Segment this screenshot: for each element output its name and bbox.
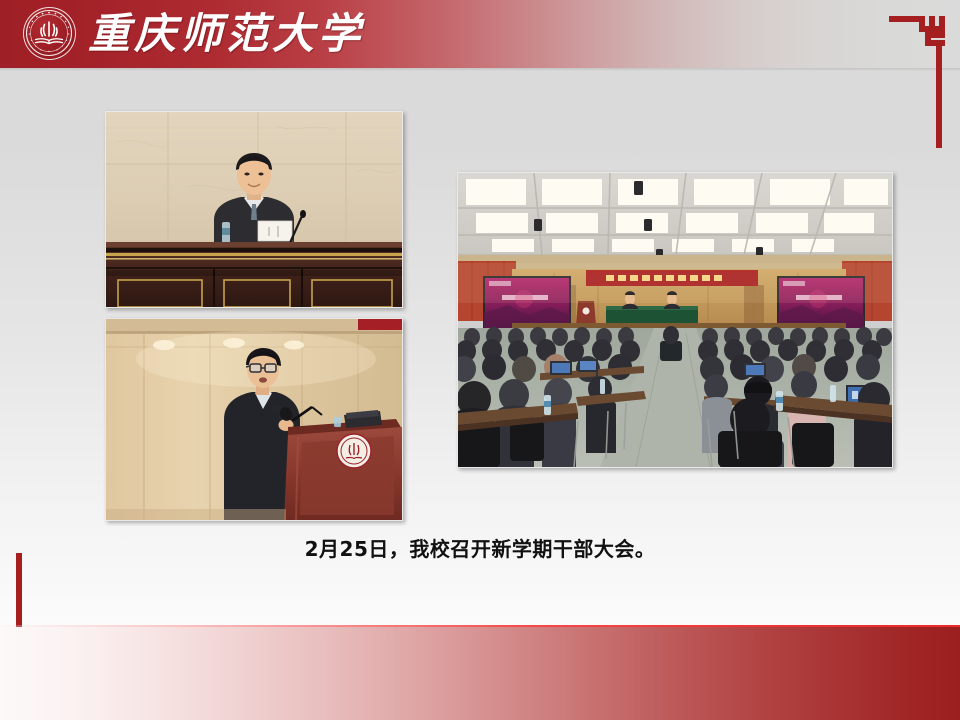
photo-conference-hall-audience[interactable] xyxy=(457,172,893,468)
corner-ornament-top-right-icon xyxy=(889,8,945,163)
header-shadow xyxy=(0,68,960,71)
photo-speaker-at-podium[interactable] xyxy=(105,318,403,521)
page-title: 重庆师范大学 xyxy=(88,6,364,62)
photo-speaker-at-head-table[interactable] xyxy=(105,111,403,308)
bottom-band xyxy=(0,627,960,720)
university-emblem-icon xyxy=(23,7,76,60)
slide-caption: 2月25日，我校召开新学期干部大会。 xyxy=(0,533,960,562)
presentation-slide: 重庆师范大学 xyxy=(0,0,960,720)
